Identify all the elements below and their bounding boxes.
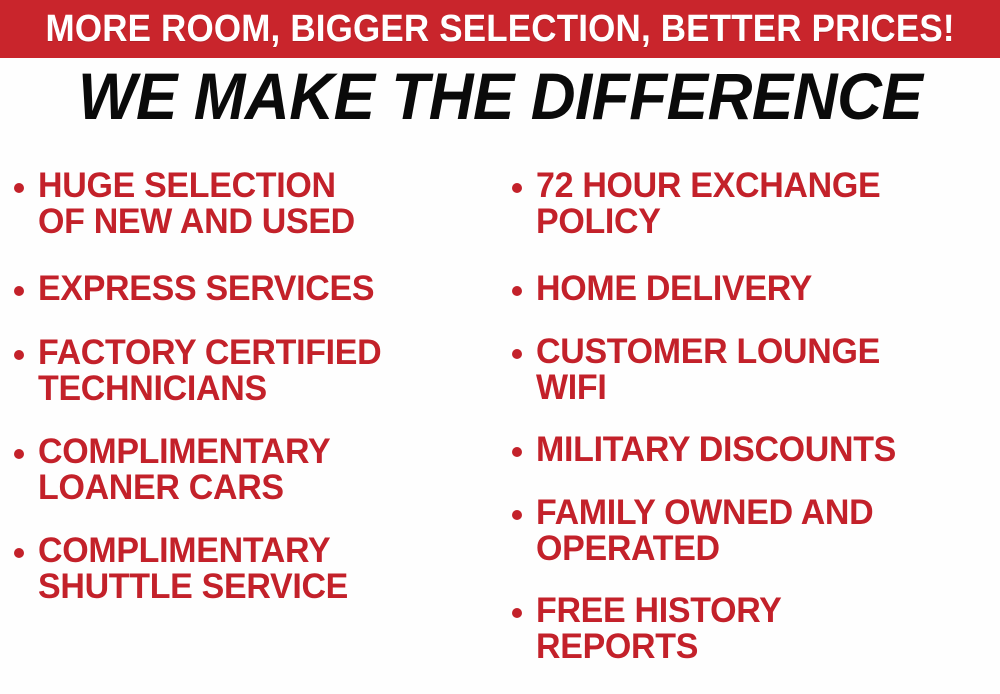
bullet-dot-icon xyxy=(512,349,522,359)
list-item-label: EXPRESS SERVICES xyxy=(38,271,486,307)
list-item: MILITARY DISCOUNTS xyxy=(512,432,1000,468)
list-item-label: HOME DELIVERY xyxy=(536,271,998,307)
bullet-dot-icon xyxy=(14,449,24,459)
list-item: HOME DELIVERY xyxy=(512,271,1000,307)
list-item-label: MILITARY DISCOUNTS xyxy=(536,432,998,468)
list-item-label: FREE HISTORY REPORTS xyxy=(536,593,998,665)
list-item: HUGE SELECTION OF NEW AND USED xyxy=(14,168,500,240)
list-item: COMPLIMENTARY SHUTTLE SERVICE xyxy=(14,533,500,605)
bullet-dot-icon xyxy=(14,183,24,193)
headline-text: WE MAKE THE DIFFERENCE xyxy=(78,63,922,130)
list-item-label: FACTORY CERTIFIED TECHNICIANS xyxy=(38,335,486,407)
bullet-dot-icon xyxy=(14,350,24,360)
benefits-column-right: 72 HOUR EXCHANGE POLICY HOME DELIVERY CU… xyxy=(512,160,1000,694)
list-item-label: CUSTOMER LOUNGE WIFI xyxy=(536,334,998,406)
list-item-label: COMPLIMENTARY SHUTTLE SERVICE xyxy=(38,533,486,605)
list-item-label: FAMILY OWNED AND OPERATED xyxy=(536,495,998,567)
benefits-columns: HUGE SELECTION OF NEW AND USED EXPRESS S… xyxy=(0,160,1000,694)
list-item: FAMILY OWNED AND OPERATED xyxy=(512,495,1000,567)
headline: WE MAKE THE DIFFERENCE xyxy=(0,63,1000,130)
bullet-dot-icon xyxy=(14,548,24,558)
list-item: COMPLIMENTARY LOANER CARS xyxy=(14,434,500,506)
bullet-dot-icon xyxy=(512,286,522,296)
promo-banner-text: MORE ROOM, BIGGER SELECTION, BETTER PRIC… xyxy=(45,10,954,48)
benefits-column-left: HUGE SELECTION OF NEW AND USED EXPRESS S… xyxy=(14,160,500,694)
promo-banner: MORE ROOM, BIGGER SELECTION, BETTER PRIC… xyxy=(0,0,1000,58)
bullet-dot-icon xyxy=(512,608,522,618)
list-item-label: HUGE SELECTION OF NEW AND USED xyxy=(38,168,486,240)
dealership-advertisement: MORE ROOM, BIGGER SELECTION, BETTER PRIC… xyxy=(0,0,1000,694)
list-item-label: COMPLIMENTARY LOANER CARS xyxy=(38,434,486,506)
bullet-dot-icon xyxy=(512,510,522,520)
bullet-dot-icon xyxy=(512,183,522,193)
bullet-dot-icon xyxy=(512,447,522,457)
list-item: CUSTOMER LOUNGE WIFI xyxy=(512,334,1000,406)
list-item-label: 72 HOUR EXCHANGE POLICY xyxy=(536,168,998,240)
list-item: FACTORY CERTIFIED TECHNICIANS xyxy=(14,335,500,407)
list-item: 72 HOUR EXCHANGE POLICY xyxy=(512,168,1000,240)
list-item: EXPRESS SERVICES xyxy=(14,271,500,307)
list-item: FREE HISTORY REPORTS xyxy=(512,593,1000,665)
bullet-dot-icon xyxy=(14,286,24,296)
